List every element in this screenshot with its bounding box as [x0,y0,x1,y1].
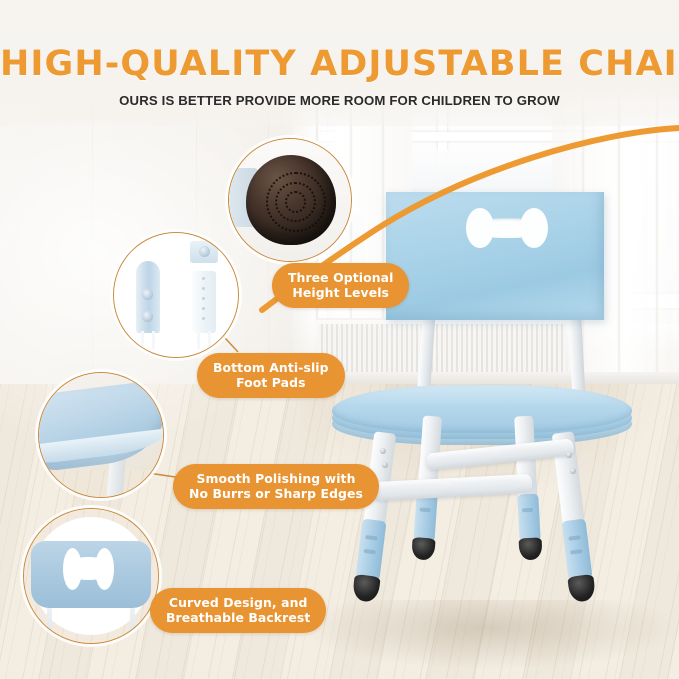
chair-brace-front [372,474,533,501]
product-infographic: HIGH-QUALITY ADJUSTABLE CHAIR OURS IS BE… [0,0,679,679]
callout-smooth-polishing: Smooth Polishing with No Burrs or Sharp … [173,464,379,509]
page-subtitle: OURS IS BETTER PROVIDE MORE ROOM FOR CHI… [0,93,679,108]
adjuster-cap-button [199,246,210,257]
callout-line-1: Smooth Polishing with [189,472,363,487]
adjuster-button [142,311,153,322]
brace-screw [380,448,386,454]
brace-screw [382,462,388,468]
callout-curved-backrest: Curved Design, and Breathable Backrest [150,588,326,633]
callout-line-2: Height Levels [288,286,393,301]
callout-line-1: Bottom Anti-slip [213,361,329,376]
brace-screw [566,452,572,458]
foot-pad-tread [229,139,351,261]
chair-leg-front-left [354,431,397,602]
detail-circle-height-adjuster [113,232,239,358]
brace-screw [570,468,576,474]
adjuster-white-tube [192,271,216,333]
main-chair-product [322,180,674,660]
callout-line-2: No Burrs or Sharp Edges [189,487,363,502]
callout-line-1: Curved Design, and [166,596,310,611]
detail-circle-anti-slip-foot-pad [228,138,352,262]
detail-circle-smooth-edge [38,372,164,498]
callout-foot-pads: Bottom Anti-slip Foot Pads [197,353,345,398]
callout-line-1: Three Optional [288,271,393,286]
callout-line-2: Foot Pads [213,376,329,391]
page-title: HIGH-QUALITY ADJUSTABLE CHAIR [0,44,679,84]
callout-line-2: Breathable Backrest [166,611,310,626]
header-band: HIGH-QUALITY ADJUSTABLE CHAIR OURS IS BE… [0,0,679,126]
backrest-breathable-cutout [66,557,112,580]
callout-height-levels: Three Optional Height Levels [272,263,409,308]
adjuster-button [142,289,153,300]
detail-circle-curved-backrest [23,508,159,644]
chair-backrest [386,192,604,320]
chair-leg-front-right [552,431,595,602]
backrest-cutout [472,218,542,238]
